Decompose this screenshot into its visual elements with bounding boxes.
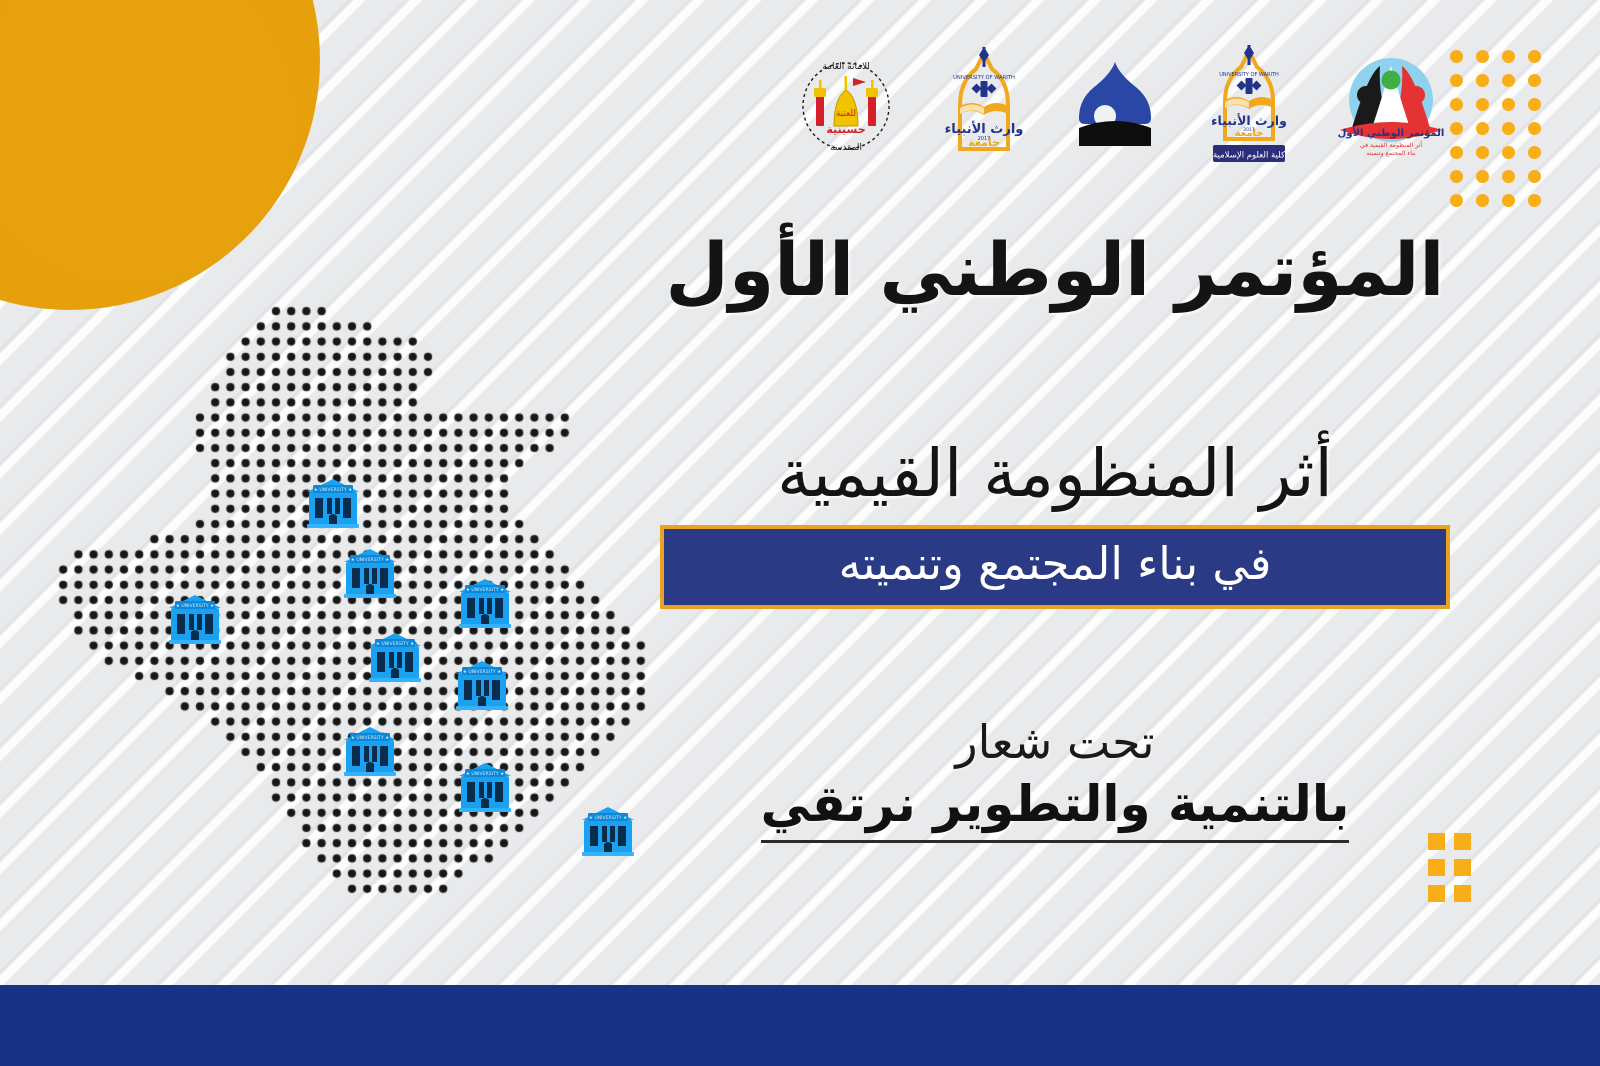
university-building-icon: ★ UNIVERSITY ★: [454, 656, 510, 712]
svg-text:كلية العلوم الإسلامية: كلية العلوم الإسلامية: [1213, 151, 1286, 161]
svg-text:★ UNIVERSITY ★: ★ UNIVERSITY ★: [466, 771, 504, 777]
svg-text:المؤتمر الوطني الأول: المؤتمر الوطني الأول: [1338, 126, 1445, 139]
university-building-pin[interactable]: ★ UNIVERSITY ★: [580, 802, 636, 858]
university-building-icon: ★ UNIVERSITY ★: [342, 722, 398, 778]
svg-text:★ UNIVERSITY ★: ★ UNIVERSITY ★: [314, 487, 352, 493]
university-crest-icon: UNIVERSITY OF WARITH وارث الأنبياء جامعة…: [934, 45, 1034, 167]
university-building-icon: ★ UNIVERSITY ★: [342, 544, 398, 600]
university-building-icon: ★ UNIVERSITY ★: [580, 802, 636, 858]
svg-text:★ UNIVERSITY ★: ★ UNIVERSITY ★: [589, 815, 627, 821]
karbala-holy-shrine-seal-icon: الامانة العامة للعتبة حسينية: [790, 50, 902, 162]
corner-circle-decoration: [0, 0, 320, 310]
svg-text:★ UNIVERSITY ★: ★ UNIVERSITY ★: [351, 735, 389, 741]
svg-text:UNIVERSITY OF WARITH: UNIVERSITY OF WARITH: [953, 75, 1015, 81]
conference-theme-line: أثر المنظومة القيمية: [660, 434, 1450, 513]
iraq-dotted-map: ★ UNIVERSITY ★★ UNIVERSITY ★★ UNIVERSITY…: [42, 290, 702, 930]
svg-text:UNIVERSITY OF WARITH: UNIVERSITY OF WARITH: [1219, 72, 1279, 78]
university-building-pin[interactable]: ★ UNIVERSITY ★: [457, 574, 513, 630]
svg-text:★ UNIVERSITY ★: ★ UNIVERSITY ★: [351, 557, 389, 563]
svg-text:2017: 2017: [977, 136, 990, 142]
university-building-pin[interactable]: ★ UNIVERSITY ★: [342, 544, 398, 600]
faculty-islamic-sciences-crest-logo: UNIVERSITY OF WARITH وارث الأنبياء جامعة…: [1197, 43, 1301, 172]
conference-title: المؤتمر الوطني الأول: [660, 225, 1450, 316]
svg-text:المقدسة: المقدسة: [830, 143, 862, 153]
university-building-pin[interactable]: ★ UNIVERSITY ★: [367, 628, 423, 684]
svg-text:وارث الأنبياء: وارث الأنبياء: [944, 120, 1023, 137]
university-building-icon: ★ UNIVERSITY ★: [305, 474, 361, 530]
svg-text:★ UNIVERSITY ★: ★ UNIVERSITY ★: [466, 587, 504, 593]
poster-canvas: الامانة العامة للعتبة حسينية: [0, 0, 1600, 1066]
university-building-pin[interactable]: ★ UNIVERSITY ★: [305, 474, 361, 530]
decorative-dot-grid-top-right: [1450, 50, 1554, 218]
svg-text:أثر المنظومة القيمية في: أثر المنظومة القيمية في: [1360, 140, 1422, 149]
svg-text:★ UNIVERSITY ★: ★ UNIVERSITY ★: [176, 603, 214, 609]
conference-theme-banner: في بناء المجتمع وتنميته: [660, 525, 1450, 609]
svg-text:2017: 2017: [1243, 127, 1255, 133]
slogan-label: تحت شعار: [660, 717, 1450, 768]
svg-text:الامانة العامة: الامانة العامة: [822, 62, 869, 72]
blue-dome-book-mark-logo: [1065, 58, 1165, 157]
slogan-text: بالتنمية والتطوير نرتقي: [761, 774, 1350, 843]
university-building-pin[interactable]: ★ UNIVERSITY ★: [457, 758, 513, 814]
svg-text:وارث الأنبياء: وارث الأنبياء: [1211, 113, 1287, 128]
faculty-crest-icon: UNIVERSITY OF WARITH وارث الأنبياء جامعة…: [1197, 43, 1301, 168]
university-building-icon: ★ UNIVERSITY ★: [457, 574, 513, 630]
footer-bar: [0, 985, 1600, 1066]
svg-text:★ UNIVERSITY ★: ★ UNIVERSITY ★: [376, 641, 414, 647]
university-building-icon: ★ UNIVERSITY ★: [367, 628, 423, 684]
first-national-conference-mark-logo: المؤتمر الوطني الأول أثر المنظومة القيمي…: [1332, 50, 1450, 166]
svg-text:للعتبة: للعتبة: [836, 109, 856, 119]
decorative-square-grid-slogan: [1428, 833, 1480, 911]
university-building-pin[interactable]: ★ UNIVERSITY ★: [342, 722, 398, 778]
university-warith-al-anbiya-crest-logo: UNIVERSITY OF WARITH وارث الأنبياء جامعة…: [934, 45, 1034, 171]
university-building-icon: ★ UNIVERSITY ★: [457, 758, 513, 814]
university-building-icon: ★ UNIVERSITY ★: [167, 590, 223, 646]
svg-text:حسينية: حسينية: [826, 123, 865, 136]
karbala-holy-shrine-seal-logo: الامانة العامة للعتبة حسينية: [790, 50, 902, 166]
logo-row: الامانة العامة للعتبة حسينية: [790, 45, 1450, 170]
svg-text:★ UNIVERSITY ★: ★ UNIVERSITY ★: [463, 669, 501, 675]
conference-mark-icon: المؤتمر الوطني الأول أثر المنظومة القيمي…: [1332, 50, 1450, 162]
university-building-pin[interactable]: ★ UNIVERSITY ★: [454, 656, 510, 712]
university-building-pin[interactable]: ★ UNIVERSITY ★: [167, 590, 223, 646]
dome-book-icon: [1065, 58, 1165, 153]
poster-text-block: المؤتمر الوطني الأول أثر المنظومة القيمي…: [660, 225, 1450, 843]
svg-text:بناء المجتمع وتنميته: بناء المجتمع وتنميته: [1366, 150, 1416, 157]
